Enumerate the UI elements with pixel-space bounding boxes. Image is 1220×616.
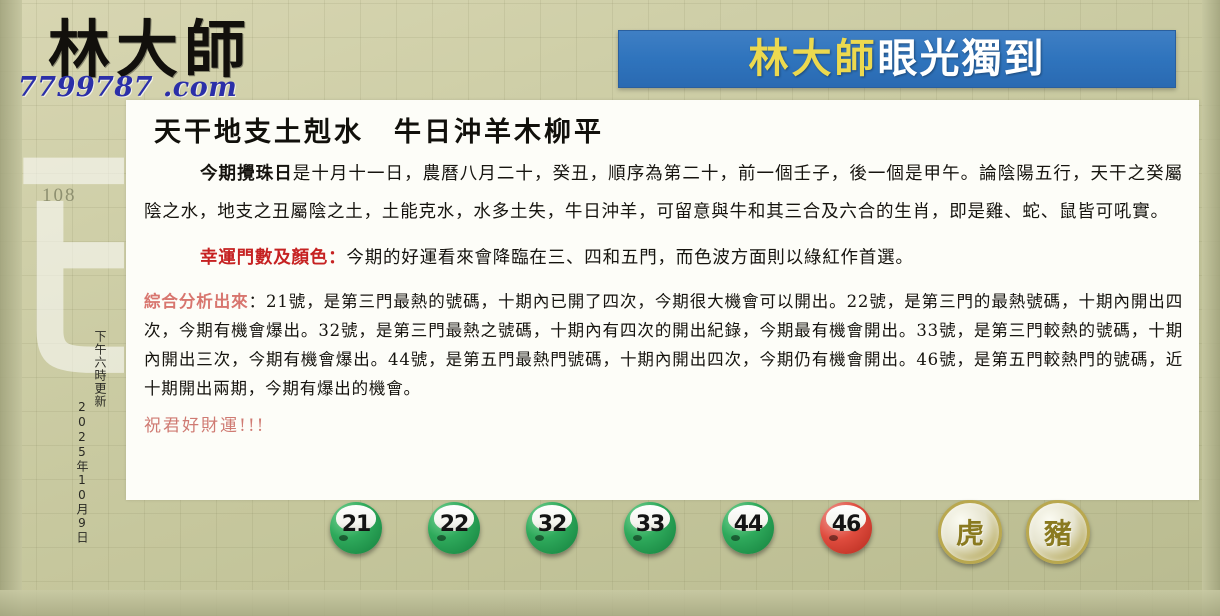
- lottery-ball[interactable]: 46: [820, 502, 872, 554]
- closing-signature: 祝君好財運!!!: [144, 407, 1183, 445]
- ball-number: 33: [636, 499, 665, 551]
- article-panel: 天干地支土剋水 牛日沖羊木柳平 今期攪珠日是十月十一日，農曆八月二十，癸丑，順序…: [126, 100, 1199, 500]
- ball-number: 44: [734, 499, 763, 551]
- paragraph-lucky-lead: 幸運門數及顏色：: [200, 248, 346, 268]
- site-domain[interactable]: 7799787 .com: [18, 72, 237, 103]
- watermark-glyph: 已: [4, 118, 124, 478]
- update-time-vertical: 下午六時更新: [92, 330, 109, 408]
- lottery-ball[interactable]: 33: [624, 502, 676, 554]
- zodiac-medallion-row: 虎 豬: [938, 500, 1090, 564]
- paragraph-analysis-lead: 綜合分析出來: [144, 292, 249, 311]
- lottery-ball[interactable]: 22: [428, 502, 480, 554]
- paragraph-astrology-lead: 今期攪珠日: [200, 164, 293, 184]
- paragraph-analysis-text: ：21號，是第三門最熱的號碼，十期內已開了四次，今期很大機會可以開出。22號，是…: [144, 292, 1183, 398]
- paragraph-astrology-text: 是十月十一日，農曆八月二十，癸丑，順序為第二十，前一個壬子，後一個是甲午。論陰陽…: [144, 164, 1183, 222]
- paragraph-lucky: 幸運門數及顏色：今期的好運看來會降臨在三、四和五門，而色波方面則以綠紅作首選。: [144, 239, 1183, 277]
- ball-number: 22: [440, 499, 469, 551]
- page-title: 天干地支土剋水 牛日沖羊木柳平: [126, 110, 1199, 149]
- banner-brand-text: 林大師: [749, 37, 878, 81]
- ball-number: 32: [538, 499, 567, 551]
- headline-banner: 林大師眼光獨到: [618, 30, 1176, 88]
- lottery-tip-page: 已 108 林大師 7799787 .com 林大師眼光獨到 天干地支土剋水 牛…: [0, 0, 1220, 616]
- paragraph-lucky-text: 今期的好運看來會降臨在三、四和五門，而色波方面則以綠紅作首選。: [346, 248, 913, 268]
- bottom-border-band: [0, 590, 1220, 616]
- article-body: 今期攪珠日是十月十一日，農曆八月二十，癸丑，順序為第二十，前一個壬子，後一個是甲…: [126, 149, 1199, 445]
- paragraph-astrology: 今期攪珠日是十月十一日，農曆八月二十，癸丑，順序為第二十，前一個壬子，後一個是甲…: [144, 155, 1183, 231]
- update-date-vertical: 2025年10月9日: [74, 400, 91, 544]
- zodiac-medallion-pig[interactable]: 豬: [1026, 500, 1090, 564]
- zodiac-label: 豬: [1044, 512, 1072, 552]
- lottery-ball-row: 21 22 32 33 44 46: [330, 502, 872, 554]
- lottery-ball[interactable]: 44: [722, 502, 774, 554]
- page-number: 108: [42, 185, 77, 207]
- ball-number: 21: [342, 499, 371, 551]
- banner-slogan-text: 眼光獨到: [878, 37, 1046, 81]
- zodiac-medallion-tiger[interactable]: 虎: [938, 500, 1002, 564]
- lottery-ball[interactable]: 32: [526, 502, 578, 554]
- right-border-band: [1202, 0, 1220, 616]
- lottery-ball[interactable]: 21: [330, 502, 382, 554]
- ball-number: 46: [832, 499, 861, 551]
- paragraph-analysis: 綜合分析出來：21號，是第三門最熱的號碼，十期內已開了四次，今期很大機會可以開出…: [144, 287, 1183, 403]
- zodiac-label: 虎: [956, 512, 984, 552]
